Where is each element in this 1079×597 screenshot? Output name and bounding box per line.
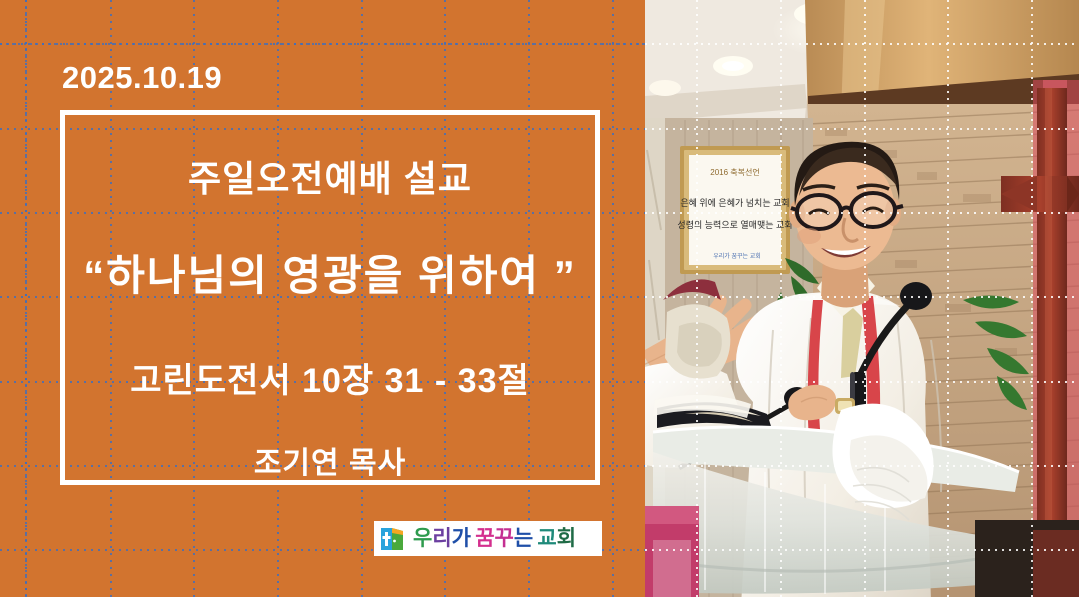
sermon-text-block: 주일오전예배 설교 “하나님의 영광을 위하여 ” 고린도전서 10장 31 -… bbox=[60, 110, 600, 485]
guide-hline bbox=[0, 43, 645, 45]
church-logo-text: 우리가 꿈꾸는 교회 bbox=[413, 528, 576, 549]
logo-char: 회 bbox=[557, 528, 576, 549]
guide-vline bbox=[612, 0, 614, 597]
sermon-title-slide: 2016 축복선언 은혜 위에 은혜가 넘치는 교회 성령의 능력으로 열매맺는… bbox=[0, 0, 1079, 597]
logo-char: 꾸 bbox=[495, 528, 514, 549]
logo-char: 교 bbox=[537, 528, 556, 549]
guide-vline bbox=[25, 0, 27, 597]
logo-char: 리 bbox=[432, 528, 451, 549]
service-label: 주일오전예배 설교 bbox=[188, 150, 472, 202]
pastor-photo: 2016 축복선언 은혜 위에 은혜가 넘치는 교회 성령의 능력으로 열매맺는… bbox=[645, 0, 1079, 597]
preacher-name: 조기연 목사 bbox=[254, 438, 406, 482]
church-logo-bar: 우리가 꿈꾸는 교회 bbox=[374, 521, 602, 556]
logo-char: 우 bbox=[413, 528, 432, 549]
svg-text:우리가 꿈꾸는 교회: 우리가 꿈꾸는 교회 bbox=[713, 252, 761, 260]
sermon-title: “하나님의 영광을 위하여 ” bbox=[83, 242, 576, 303]
open-door-cross-icon bbox=[380, 526, 406, 552]
logo-char: 가 bbox=[452, 528, 471, 549]
photo-illustration: 2016 축복선언 은혜 위에 은혜가 넘치는 교회 성령의 능력으로 열매맺는… bbox=[645, 0, 1079, 597]
svg-text:2016 축복선언: 2016 축복선언 bbox=[710, 167, 759, 177]
sermon-date: 2025.10.19 bbox=[62, 60, 222, 96]
svg-text:성령의 능력으로 열매맺는 교회: 성령의 능력으로 열매맺는 교회 bbox=[677, 219, 792, 230]
logo-char: 꿈 bbox=[475, 528, 494, 549]
logo-char: 는 bbox=[514, 528, 533, 549]
scripture-reference: 고린도전서 10장 31 - 33절 bbox=[130, 353, 530, 402]
svg-text:은혜 위에 은혜가 넘치는 교회: 은혜 위에 은혜가 넘치는 교회 bbox=[680, 197, 789, 208]
